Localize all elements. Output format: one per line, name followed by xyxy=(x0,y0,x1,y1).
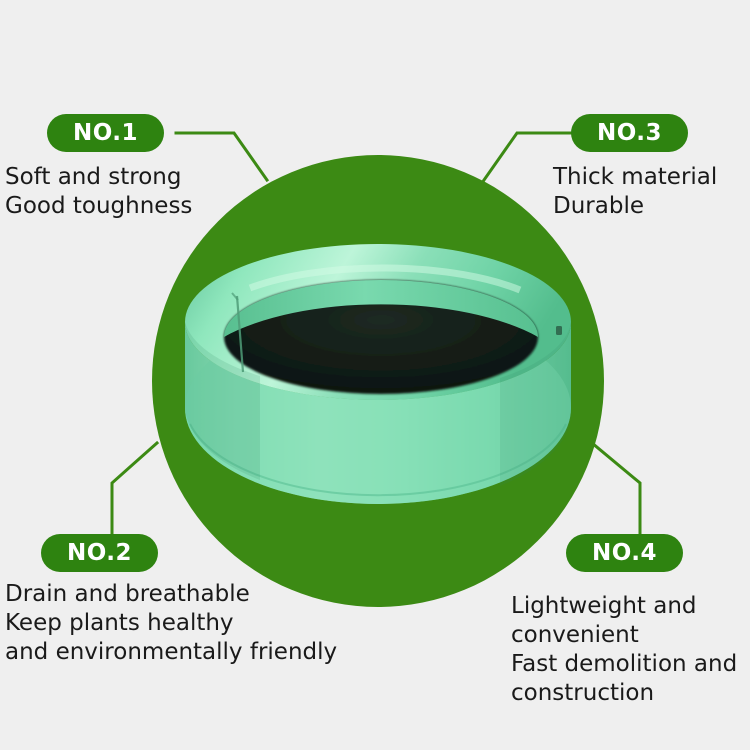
feature-text-2: Drain and breathable Keep plants healthy… xyxy=(5,580,337,667)
badge-no-3[interactable]: NO.3 xyxy=(571,114,688,152)
feature-text-1: Soft and strong Good toughness xyxy=(5,163,192,221)
feature-3-line-1: Thick material xyxy=(553,163,717,192)
infographic-canvas: NO.1 Soft and strong Good toughness NO.3… xyxy=(0,0,750,750)
connector-line-2 xyxy=(112,443,157,534)
badge-no-4[interactable]: NO.4 xyxy=(566,534,683,572)
feature-text-3: Thick material Durable xyxy=(553,163,717,221)
feature-4-line-2: convenient xyxy=(511,621,737,650)
feature-2-line-3: and environmentally friendly xyxy=(5,638,337,667)
feature-4-line-1: Lightweight and xyxy=(511,592,737,621)
badge-no-2[interactable]: NO.2 xyxy=(41,534,158,572)
feature-2-line-1: Drain and breathable xyxy=(5,580,337,609)
feature-text-4: Lightweight and convenient Fast demoliti… xyxy=(511,592,737,708)
feature-2-line-2: Keep plants healthy xyxy=(5,609,337,638)
hero-circle xyxy=(152,155,604,607)
badge-no-1[interactable]: NO.1 xyxy=(47,114,164,152)
connector-line-4 xyxy=(592,443,640,534)
feature-4-line-4: construction xyxy=(511,679,737,708)
feature-3-line-2: Durable xyxy=(553,192,717,221)
feature-4-line-3: Fast demolition and xyxy=(511,650,737,679)
feature-1-line-2: Good toughness xyxy=(5,192,192,221)
feature-1-line-1: Soft and strong xyxy=(5,163,192,192)
